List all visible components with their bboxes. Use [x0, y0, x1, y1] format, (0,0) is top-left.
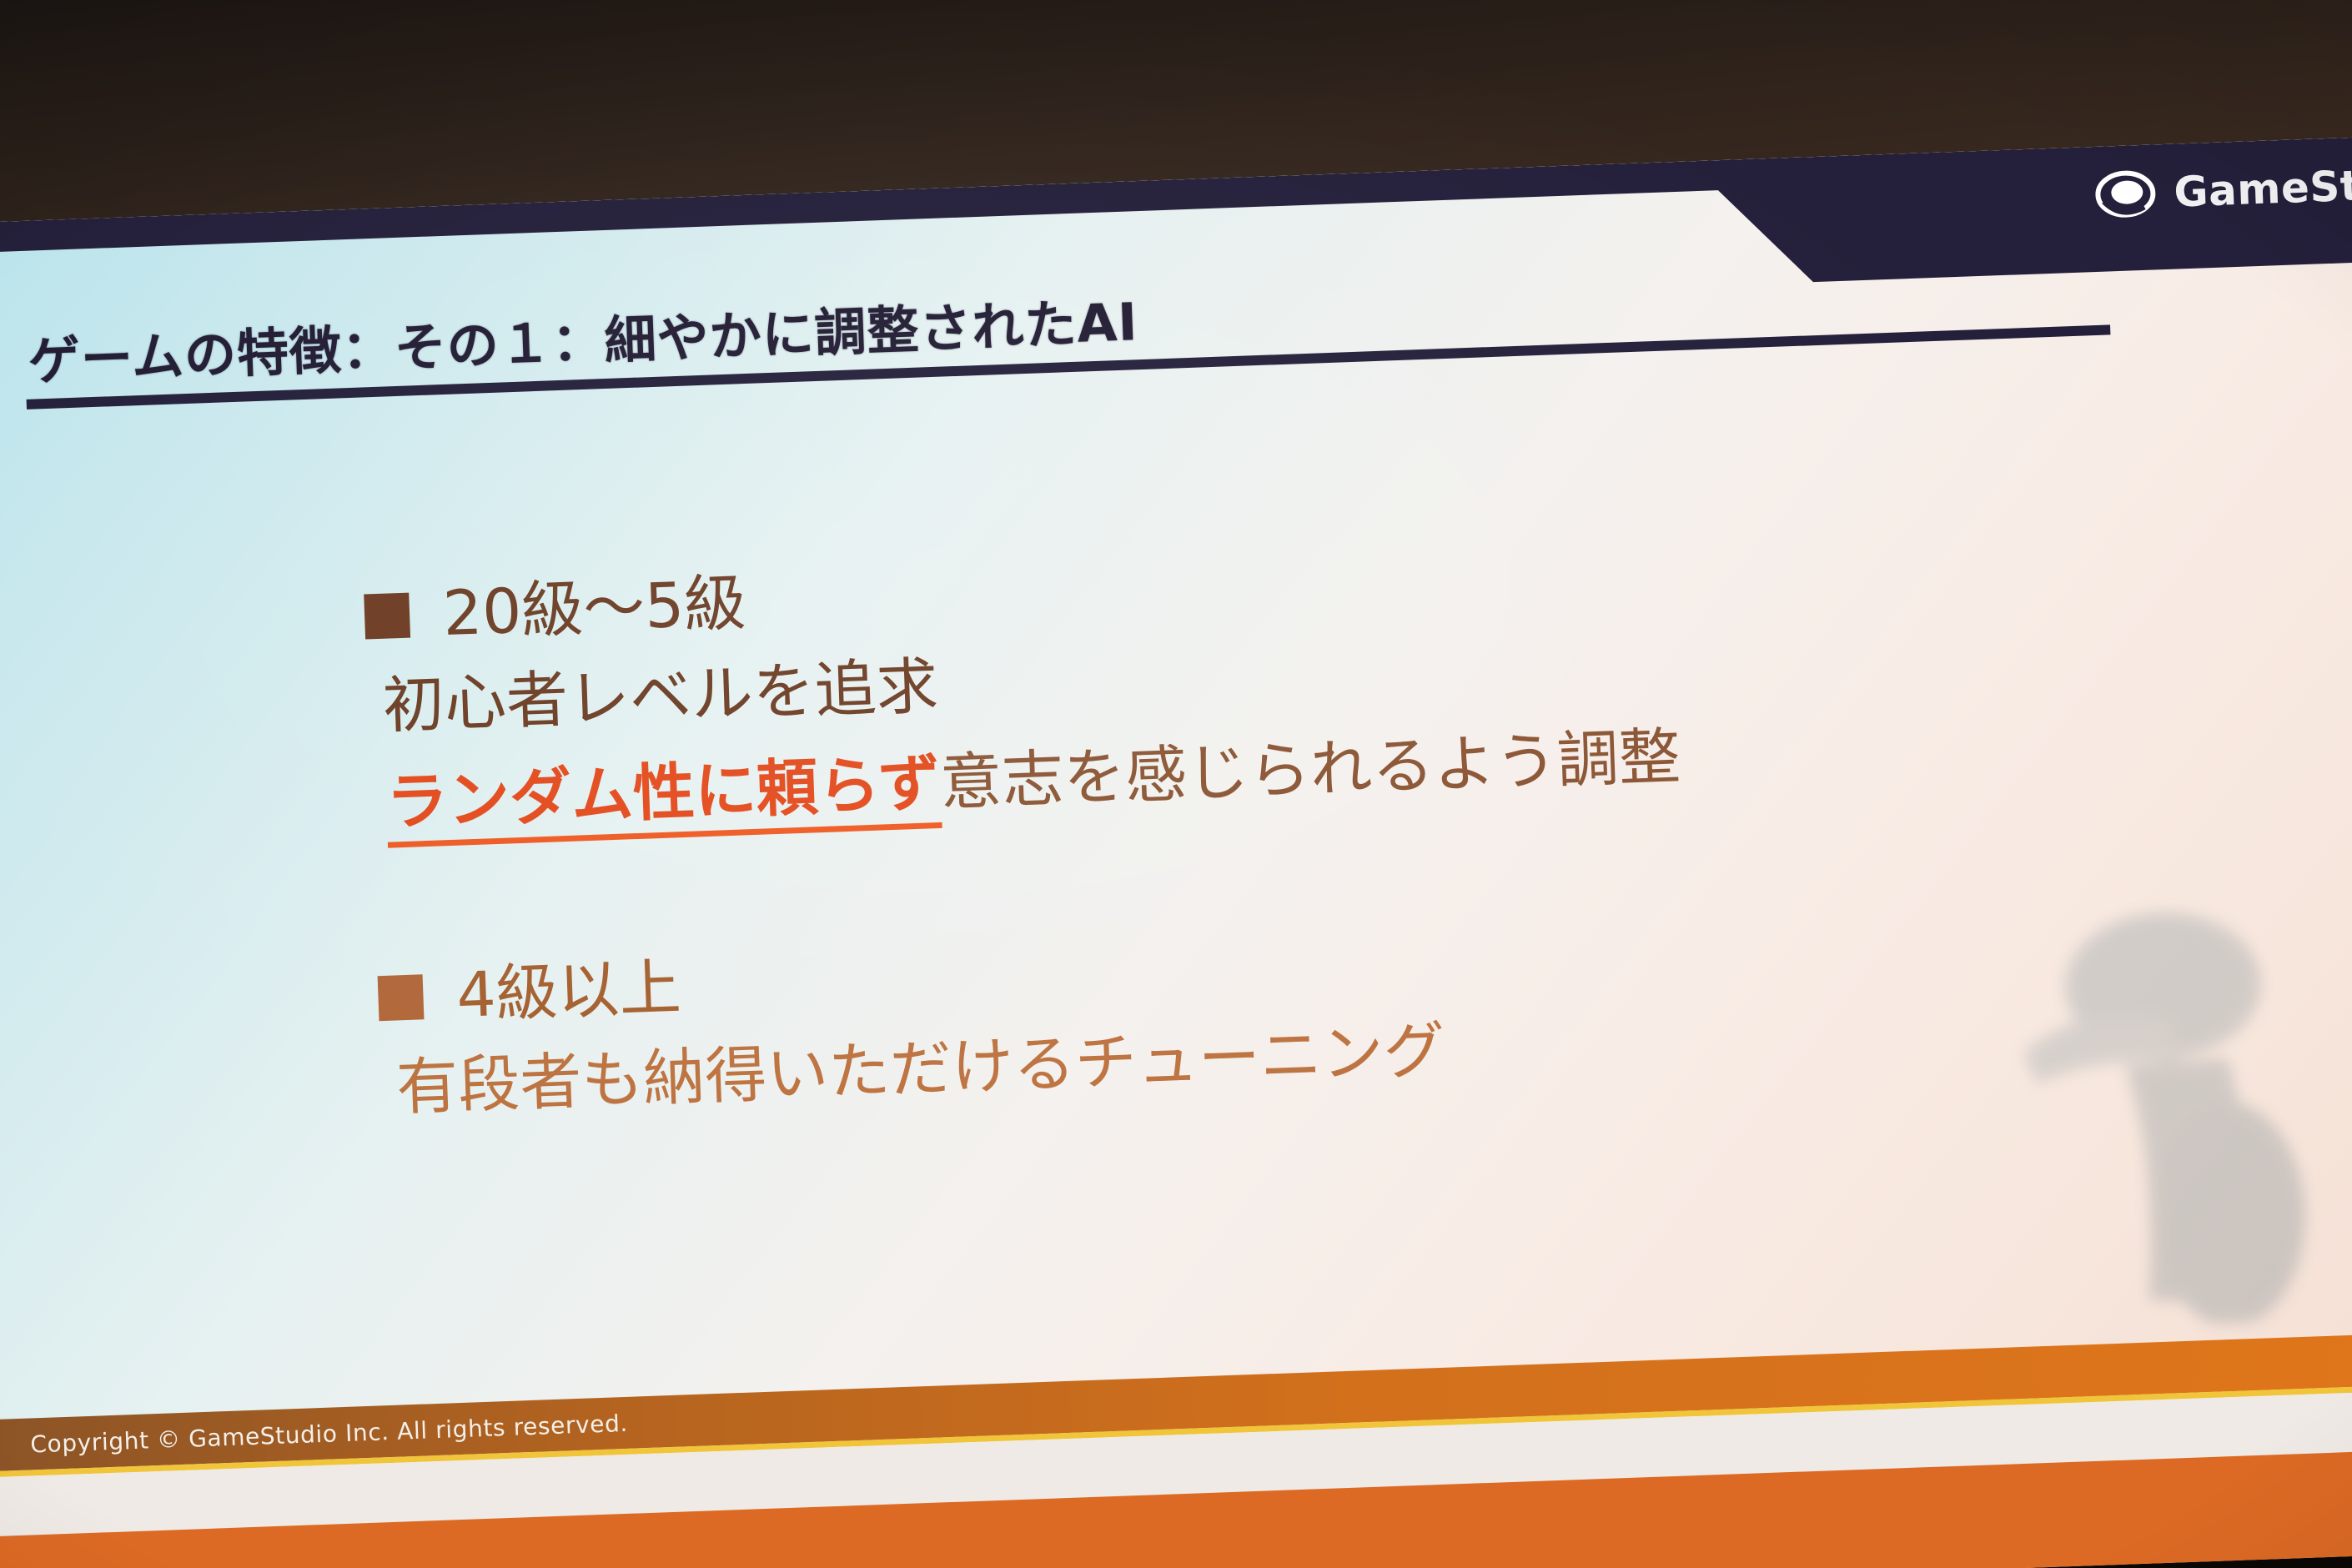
- slide-body: 20級～5級 初心者レベルを追求 ランダム性に頼らず意志を感じられるよう調整 4…: [0, 327, 2352, 1515]
- copyright-text: Copyright © GameStudio Inc. All rights r…: [0, 1409, 628, 1459]
- bullet-square-icon: [364, 593, 410, 640]
- highlighted-phrase: ランダム性に頼らず: [385, 747, 942, 848]
- gamestudio-swoosh-icon: [2094, 163, 2157, 225]
- presentation-slide: GameStu ゲームの特徴：その１：細やかに調整されたAI 20級～5級 初心…: [0, 135, 2352, 1568]
- highlight-remainder-text: 意志を感じられるよう調整: [939, 721, 1682, 819]
- content-block-2: 4級以上 有段者も納得いただけるチューニング: [377, 930, 1446, 1127]
- bullet-square-icon: [378, 974, 425, 1021]
- brand-logo-text: GameStu: [2174, 160, 2352, 216]
- content-block-1: 20級～5級 初心者レベルを追求 ランダム性に頼らず意志を感じられるよう調整: [364, 539, 1681, 842]
- bullet-heading-2: 4級以上: [377, 930, 1443, 1030]
- bullet-heading-label-1: 20級～5級: [442, 572, 747, 645]
- projection-screen: GameStu ゲームの特徴：その１：細やかに調整されたAI 20級～5級 初心…: [0, 135, 2352, 1568]
- content-line-2-1: 有段者も納得いただけるチューニング: [395, 1013, 1446, 1126]
- content-line-1-2: ランダム性に頼らず意志を感じられるよう調整: [385, 719, 1682, 841]
- brand-logo: GameStu: [2094, 153, 2352, 225]
- photo-scene: GameStu ゲームの特徴：その１：細やかに調整されたAI 20級～5級 初心…: [0, 0, 2352, 1568]
- bullet-heading-label-2: 4級以上: [455, 957, 682, 1027]
